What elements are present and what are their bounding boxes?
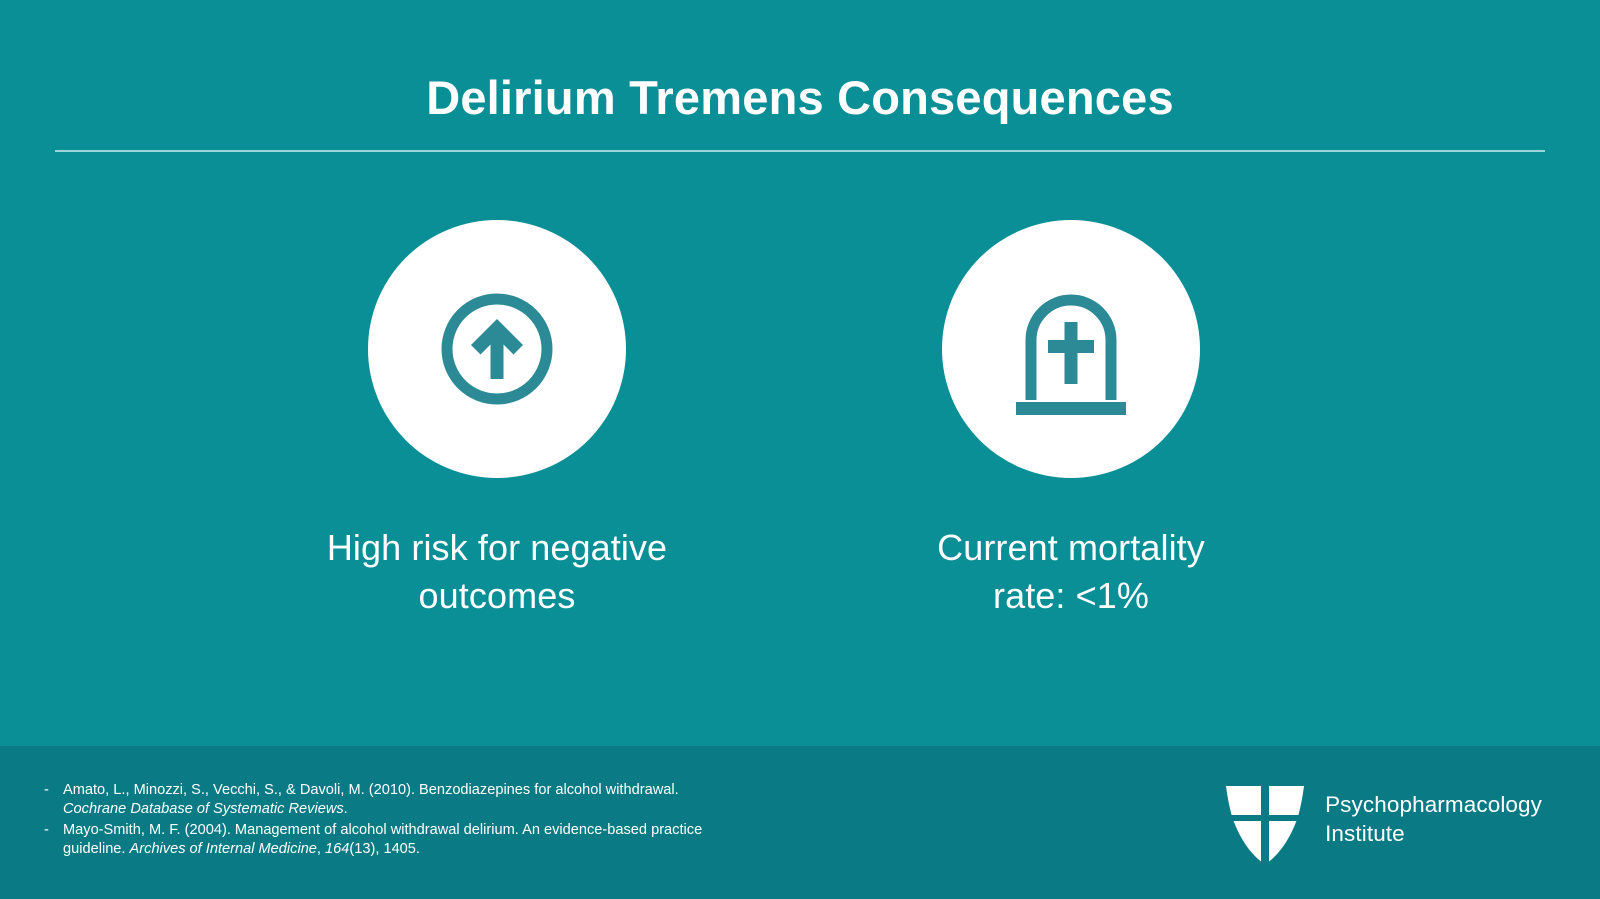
reference-item: - Mayo-Smith, M. F. (2004). Management o… (44, 821, 724, 858)
reference-text: Mayo-Smith, M. F. (2004). Management of … (63, 821, 724, 858)
slide-canvas: Delirium Tremens Consequences High risk … (0, 0, 1600, 899)
page-title: Delirium Tremens Consequences (0, 72, 1600, 124)
icon-badge-circle (368, 220, 626, 478)
reference-volume: 164 (325, 841, 349, 857)
reference-part-2: , (317, 841, 325, 857)
caption-line-1: High risk for negative (327, 524, 667, 572)
brand-name-label: Psychopharmacology Institute (1325, 791, 1542, 849)
consequence-caption: High risk for negative outcomes (327, 524, 667, 620)
arrow-up-in-circle-icon (435, 287, 559, 411)
reference-text: Amato, L., Minozzi, S., Vecchi, S., & Da… (63, 781, 724, 818)
consequence-caption: Current mortality rate: <1% (937, 524, 1205, 620)
consequence-item-high-risk: High risk for negative outcomes (262, 220, 732, 620)
bullet-dash: - (44, 781, 63, 818)
reference-part-3: (13), 1405. (349, 841, 420, 857)
caption-line-2: outcomes (327, 572, 667, 620)
reference-item: - Amato, L., Minozzi, S., Vecchi, S., & … (44, 781, 724, 818)
title-divider (55, 150, 1545, 152)
shield-logo-icon (1223, 776, 1307, 864)
reference-journal-title: Archives of Internal Medicine (130, 841, 317, 857)
reference-journal-title: Cochrane Database of Systematic Reviews (63, 801, 344, 817)
tombstone-icon (1008, 282, 1134, 416)
consequence-item-mortality: Current mortality rate: <1% (836, 220, 1306, 620)
reference-part-1: Amato, L., Minozzi, S., Vecchi, S., & Da… (63, 782, 679, 798)
content-columns: High risk for negative outcomes (0, 220, 1600, 640)
caption-line-1: Current mortality (937, 524, 1205, 572)
icon-badge-circle (942, 220, 1200, 478)
reference-part-2: . (344, 801, 348, 817)
references-list: - Amato, L., Minozzi, S., Vecchi, S., & … (44, 781, 724, 861)
bullet-dash: - (44, 821, 63, 858)
caption-line-2: rate: <1% (937, 572, 1205, 620)
brand-logo: Psychopharmacology Institute (1223, 776, 1542, 864)
